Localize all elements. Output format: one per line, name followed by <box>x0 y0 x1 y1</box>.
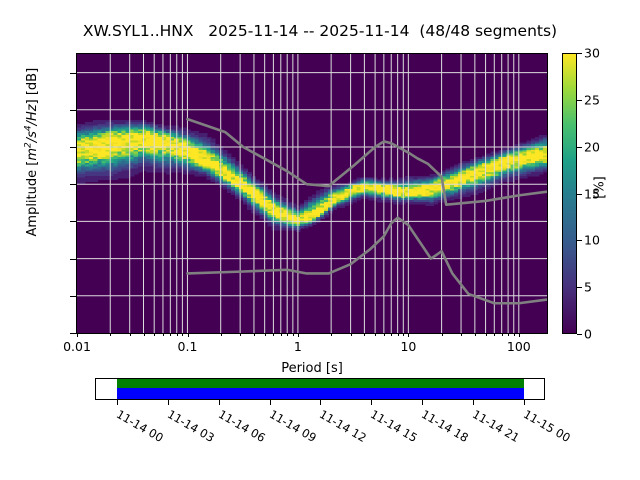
timeline-tick-mark <box>320 400 321 405</box>
x-tick-mark-minor <box>398 333 399 336</box>
x-tick-label: 100 <box>507 339 531 354</box>
x-tick-mark-minor <box>475 333 476 336</box>
timeline-tick-label: 11-14 12 <box>317 407 369 445</box>
y-tick-mark <box>70 259 76 260</box>
data-coverage-bar <box>95 378 545 400</box>
timeline-tick-mark <box>524 400 525 405</box>
timeline-tick-label: 11-14 00 <box>114 407 166 445</box>
timeline-tick-mark <box>270 400 271 405</box>
x-tick-mark-minor <box>182 333 183 336</box>
y-axis-label: Amplitude [m2/s4/Hz] [dB] <box>24 12 40 292</box>
x-tick-mark-minor <box>130 333 131 336</box>
y-tick-mark <box>70 221 76 222</box>
x-tick-mark-minor <box>331 333 332 336</box>
page-title: XW.SYL1..HNX 2025-11-14 -- 2025-11-14 (4… <box>0 22 640 40</box>
y-tick-mark <box>70 333 76 334</box>
colorbar-tick-mark <box>577 334 582 335</box>
y-tick-mark <box>70 110 76 111</box>
timeline-tick-mark <box>371 400 372 405</box>
x-tick-mark-minor <box>391 333 392 336</box>
timeline-tick-label: 11-14 06 <box>216 407 268 445</box>
colorbar-tick-label: 30 <box>584 46 600 61</box>
y-tick-mark <box>70 73 76 74</box>
colorbar-tick-label: 5 <box>584 280 592 295</box>
timeline-tick-mark <box>219 400 220 405</box>
x-tick-label: 1 <box>294 339 302 354</box>
timeline-tick-label: 11-14 18 <box>419 407 471 445</box>
colorbar <box>562 53 577 334</box>
x-tick-mark-minor <box>442 333 443 336</box>
x-tick-mark <box>298 333 299 337</box>
y-tick-mark <box>70 184 76 185</box>
timeline-tick-label: 11-14 03 <box>165 407 217 445</box>
x-tick-mark-minor <box>281 333 282 336</box>
timeline-tick-mark <box>117 400 118 405</box>
y-axis-label-text: Amplitude [m2/s4/Hz] [dB] <box>25 68 40 237</box>
x-tick-label: 0.1 <box>178 339 198 354</box>
x-tick-label: 0.01 <box>63 339 91 354</box>
x-tick-mark-minor <box>502 333 503 336</box>
timeline-tick-label: 11-14 15 <box>368 407 420 445</box>
x-tick-label: 10 <box>400 339 416 354</box>
timeline-tick-mark <box>473 400 474 405</box>
x-tick-mark-minor <box>293 333 294 336</box>
x-tick-mark-minor <box>144 333 145 336</box>
x-tick-mark-minor <box>154 333 155 336</box>
x-tick-mark <box>188 333 189 337</box>
x-tick-mark <box>77 333 78 337</box>
y-tick-mark <box>70 147 76 148</box>
x-tick-mark-minor <box>486 333 487 336</box>
colorbar-tick-mark <box>577 240 582 241</box>
ppsd-plot-area <box>76 53 548 334</box>
ppsd-canvas <box>77 54 547 333</box>
x-tick-mark-minor <box>494 333 495 336</box>
coverage-segment-green <box>117 379 524 388</box>
colorbar-tick-mark <box>577 287 582 288</box>
y-tick-mark <box>70 296 76 297</box>
x-tick-mark-minor <box>364 333 365 336</box>
x-tick-mark-minor <box>110 333 111 336</box>
timeline-tick-label: 11-14 09 <box>267 407 319 445</box>
timeline-tick-mark <box>422 400 423 405</box>
x-tick-mark-minor <box>254 333 255 336</box>
x-tick-mark <box>519 333 520 337</box>
x-tick-mark-minor <box>508 333 509 336</box>
colorbar-tick-mark <box>577 100 582 101</box>
x-tick-mark-minor <box>287 333 288 336</box>
coverage-segment-blue <box>117 388 524 399</box>
colorbar-tick-mark <box>577 147 582 148</box>
x-tick-mark-minor <box>351 333 352 336</box>
timeline-tick-mark <box>168 400 169 405</box>
x-tick-mark-minor <box>265 333 266 336</box>
x-tick-mark-minor <box>177 333 178 336</box>
timeline-tick-label: 11-14 21 <box>470 407 522 445</box>
x-tick-mark-minor <box>461 333 462 336</box>
x-tick-mark-minor <box>514 333 515 336</box>
x-tick-mark-minor <box>240 333 241 336</box>
x-tick-mark-minor <box>170 333 171 336</box>
x-tick-mark-minor <box>221 333 222 336</box>
colorbar-tick-label: 0 <box>584 327 592 342</box>
ppsd-figure: XW.SYL1..HNX 2025-11-14 -- 2025-11-14 (4… <box>0 0 640 480</box>
colorbar-tick-mark <box>577 194 582 195</box>
colorbar-tick-label: 10 <box>584 233 600 248</box>
timeline-tick-label: 11-15 00 <box>521 407 573 445</box>
x-tick-mark-minor <box>375 333 376 336</box>
x-tick-mark-minor <box>273 333 274 336</box>
x-tick-mark-minor <box>163 333 164 336</box>
colorbar-label: [%] <box>593 148 608 228</box>
colorbar-tick-label: 25 <box>584 92 600 107</box>
x-tick-mark <box>408 333 409 337</box>
x-tick-mark-minor <box>403 333 404 336</box>
colorbar-tick-mark <box>577 53 582 54</box>
x-tick-mark-minor <box>384 333 385 336</box>
ppsd-density-histogram <box>77 120 547 232</box>
x-axis-label: Period [s] <box>76 361 548 376</box>
